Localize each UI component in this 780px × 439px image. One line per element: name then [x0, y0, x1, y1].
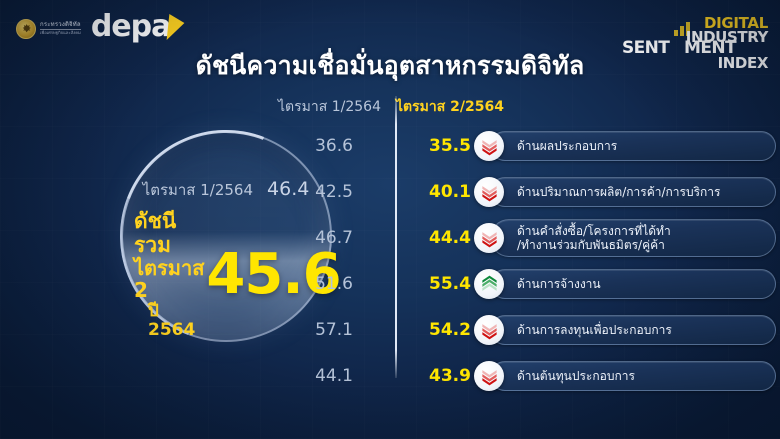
previous-quarter-label: ไตรมาส 1/2564	[143, 178, 253, 202]
page-title: ดัชนีความเชื่อมั่นอุตสาหกรรมดิจิทัล	[0, 46, 780, 86]
column-header-q2: ไตรมาส 2/2564	[396, 96, 504, 118]
category-pill[interactable]: ด้านการลงทุนเพื่อประกอบการ	[490, 315, 776, 345]
category-label: ด้านต้นทุนประกอบการ	[517, 369, 635, 383]
table-row[interactable]: 46.7 44.4 ด้านคำสั่งซื้อ/โครงการที่ได้ทำ…	[278, 218, 776, 258]
category-pill[interactable]: ด้านต้นทุนประกอบการ	[490, 361, 776, 391]
row-q1-value: 57.1	[278, 320, 390, 340]
ministry-sub-th: เพื่อเศรษฐกิจและสังคม	[40, 31, 81, 35]
category-label: ด้านการลงทุนเพื่อประกอบการ	[517, 323, 672, 337]
depa-arrow-icon	[167, 14, 186, 40]
column-header-q1: ไตรมาส 1/2564	[278, 96, 396, 118]
row-q1-value: 42.5	[278, 182, 390, 202]
index-rows: 36.6 35.5 ด้านผลประกอบการ 42.5 40.1	[278, 126, 776, 402]
garuda-seal-icon	[16, 19, 36, 39]
depa-wordmark: depa	[91, 12, 171, 42]
category-label: ด้านปริมาณการผลิต/การค้า/การบริการ	[517, 185, 720, 199]
category-pill[interactable]: ด้านปริมาณการผลิต/การค้า/การบริการ	[490, 177, 776, 207]
category-label: ด้านผลประกอบการ	[517, 139, 617, 153]
table-row[interactable]: 57.1 54.2 ด้านการลงทุนเพื่อประกอบการ	[278, 310, 776, 350]
row-q1-value: 51.6	[278, 274, 390, 294]
row-q1-value: 44.1	[278, 366, 390, 386]
row-q1-value: 36.6	[278, 136, 390, 156]
ministry-logo: กระทรวงดิจิทัล เพื่อเศรษฐกิจและสังคม	[16, 19, 81, 39]
trend-down-icon	[474, 315, 504, 345]
table-row[interactable]: 44.1 43.9 ด้านต้นทุนประกอบการ	[278, 356, 776, 396]
overall-index-title: ดัชนีรวม	[134, 210, 204, 257]
depa-logo: depa	[91, 12, 185, 42]
trend-down-icon	[474, 131, 504, 161]
table-row[interactable]: 36.6 35.5 ด้านผลประกอบการ	[278, 126, 776, 166]
slide-canvas: กระทรวงดิจิทัล เพื่อเศรษฐกิจและสังคม dep…	[0, 0, 780, 439]
row-q1-value: 46.7	[278, 228, 390, 248]
category-label: ด้านการจ้างงาน	[517, 277, 601, 291]
category-pill[interactable]: ด้านผลประกอบการ	[490, 131, 776, 161]
category-pill[interactable]: ด้านการจ้างงาน	[490, 269, 776, 299]
ministry-name: กระทรวงดิจิทัล เพื่อเศรษฐกิจและสังคม	[40, 22, 81, 35]
brand-logo-group: กระทรวงดิจิทัล เพื่อเศรษฐกิจและสังคม dep…	[16, 14, 184, 44]
trend-down-icon	[474, 361, 504, 391]
trend-down-icon	[474, 223, 504, 253]
overall-index-year: ปี 2564	[134, 302, 204, 340]
trend-up-icon	[474, 269, 504, 299]
table-row[interactable]: 42.5 40.1 ด้านปริมาณการผลิต/การค้า/การบร…	[278, 172, 776, 212]
category-pill[interactable]: ด้านคำสั่งซื้อ/โครงการที่ได้ทำ /ทำงานร่ว…	[490, 219, 776, 257]
overall-index-labels: ดัชนีรวม ไตรมาส 2 ปี 2564	[134, 210, 204, 340]
category-label: ด้านคำสั่งซื้อ/โครงการที่ได้ทำ /ทำงานร่ว…	[517, 224, 671, 252]
table-row[interactable]: 51.6 55.4 ด้านการจ้างงาน	[278, 264, 776, 304]
table-column-headers: ไตรมาส 1/2564 ไตรมาส 2/2564	[278, 96, 504, 118]
overall-index-quarter: ไตรมาส 2	[134, 257, 204, 302]
trend-down-icon	[474, 177, 504, 207]
